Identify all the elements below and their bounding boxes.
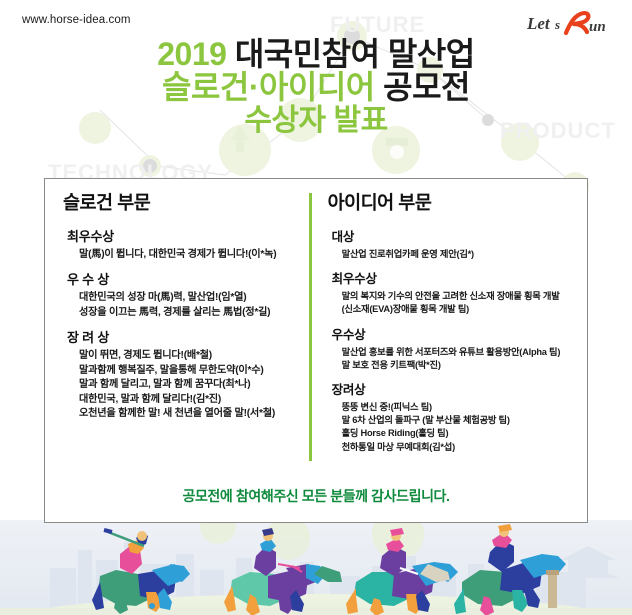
idea-award-entry: 뚱뚱 변신 중!(피닉스 팀) (328, 401, 575, 414)
site-url: www.horse-idea.com (22, 14, 131, 26)
slogan-award-entry: 대한민국, 말과 함께 달리다!(김*진) (63, 393, 303, 407)
idea-award-entry: 말산업 홍보를 위한 서포터즈와 유튜브 활용방안(Alpha 팀) (328, 346, 575, 359)
idea-award-group: 최우수상말의 복지와 기수의 안전을 고려한 신소재 장애물 횡목 개발(신소재… (328, 268, 575, 316)
idea-column-header: 아이디어 부문 (328, 189, 575, 215)
slogan-award-group: 최우수상말(馬)이 뜁니다, 대한민국 경제가 뜁니다!(이*녹) (63, 226, 303, 262)
idea-award-group: 대상말산업 진로취업카페 운영 제안(김*) (328, 226, 575, 261)
slogan-award-entry: 대한민국의 성장 마(馬)력, 말산업!(임*열) (63, 291, 303, 305)
title-line-3: 수상자 발표 (0, 106, 632, 137)
slogan-award-entry: 말과함께 행복질주, 말을통해 무한도약(이*수) (63, 364, 303, 378)
horse-riders-illustration (0, 520, 632, 615)
title-line-3-green: 수상자 발표 (244, 104, 387, 137)
slogan-award-entry: 오천년을 함께한 말! 새 천년을 열어줄 말!(서*철) (63, 407, 303, 421)
idea-award-name: 대상 (328, 226, 575, 245)
slogan-award-group: 우 수 상대한민국의 성장 마(馬)력, 말산업!(임*열)성장을 이끄는 馬력… (63, 269, 303, 320)
logo-text-apostrophe-s: s (554, 17, 560, 32)
title-year: 2019 (157, 36, 226, 72)
idea-award-group: 우수상말산업 홍보를 위한 서포터즈와 유튜브 활용방안(Alpha 팀)말 보… (328, 324, 575, 372)
slogan-award-name: 장 려 상 (63, 327, 303, 346)
logo-r-swoosh (566, 13, 588, 33)
idea-award-entry: (신소재(EVA)장애물 횡목 개발 팀) (328, 303, 575, 316)
logo-text-un: un (589, 19, 606, 35)
slogan-award-list: 최우수상말(馬)이 뜁니다, 대한민국 경제가 뜁니다!(이*녹)우 수 상대한… (63, 226, 303, 422)
idea-award-name: 장려상 (328, 379, 575, 398)
idea-award-entry: 말 6차 산업의 돌파구 (말 부산물 체험공방 팀) (328, 414, 575, 427)
slogan-column-header: 슬로건 부문 (63, 189, 303, 215)
column-divider (309, 193, 312, 461)
slogan-award-entry: 말(馬)이 뜁니다, 대한민국 경제가 뜁니다!(이*녹) (63, 248, 303, 262)
title-line-1: 2019 대국민참여 말산업 (0, 38, 632, 71)
title-line-1-dark: 대국민참여 말산업 (235, 36, 475, 72)
winners-card: 슬로건 부문 최우수상말(馬)이 뜁니다, 대한민국 경제가 뜁니다!(이*녹)… (44, 178, 588, 523)
idea-award-name: 최우수상 (328, 268, 575, 287)
idea-award-name: 우수상 (328, 324, 575, 343)
idea-award-entry: 천하통일 마상 무예대회(김*섭) (328, 441, 575, 454)
slogan-award-name: 최우수상 (63, 226, 303, 245)
watermark-future: FUTURE (330, 12, 425, 38)
idea-column: 아이디어 부문 대상말산업 진로취업카페 운영 제안(김*)최우수상말의 복지와… (314, 189, 579, 469)
idea-award-entry: 홀딩 Horse Riding(홀딩 팀) (328, 427, 575, 440)
poster-title: 2019 대국민참여 말산업 슬로건·아이디어 공모전 수상자 발표 (0, 38, 632, 137)
title-line-2: 슬로건·아이디어 공모전 (0, 71, 632, 104)
poster-root: FUTURE PRODUCT TECHNOLOGY www.horse-idea… (0, 0, 632, 615)
winners-columns: 슬로건 부문 최우수상말(馬)이 뜁니다, 대한민국 경제가 뜁니다!(이*녹)… (45, 179, 587, 469)
slogan-award-entry: 말과 함께 달리고, 말과 함께 꿈꾸다(최*나) (63, 378, 303, 392)
slogan-section-title: 슬로건 부문 (63, 189, 150, 215)
title-line-2-dark: 공모전 (383, 69, 470, 105)
idea-award-list: 대상말산업 진로취업카페 운영 제안(김*)최우수상말의 복지와 기수의 안전을… (328, 226, 575, 454)
slogan-award-group: 장 려 상말이 뛰면, 경제도 뜁니다!(배*철)말과함께 행복질주, 말을통해… (63, 327, 303, 421)
title-line-2-green: 슬로건·아이디어 (162, 69, 375, 105)
slogan-column: 슬로건 부문 최우수상말(馬)이 뜁니다, 대한민국 경제가 뜁니다!(이*녹)… (53, 189, 307, 469)
thanks-message: 공모전에 참여해주신 모든 분들께 감사드립니다. (45, 486, 587, 506)
idea-award-entry: 말 보호 전용 키트팩(박*진) (328, 359, 575, 372)
idea-award-group: 장려상뚱뚱 변신 중!(피닉스 팀)말 6차 산업의 돌파구 (말 부산물 체험… (328, 379, 575, 454)
logo-text-lets: Let (526, 14, 551, 33)
idea-award-entry: 말의 복지와 기수의 안전을 고려한 신소재 장애물 횡목 개발 (328, 290, 575, 303)
slogan-award-entry: 성장을 이끄는 馬력, 경제를 살리는 馬법(정*길) (63, 306, 303, 320)
idea-section-title: 아이디어 부문 (328, 189, 432, 215)
slogan-award-entry: 말이 뛰면, 경제도 뜁니다!(배*철) (63, 349, 303, 363)
letsrun-logo: Let s un (526, 8, 614, 38)
slogan-award-name: 우 수 상 (63, 269, 303, 288)
idea-award-entry: 말산업 진로취업카페 운영 제안(김*) (328, 248, 575, 261)
